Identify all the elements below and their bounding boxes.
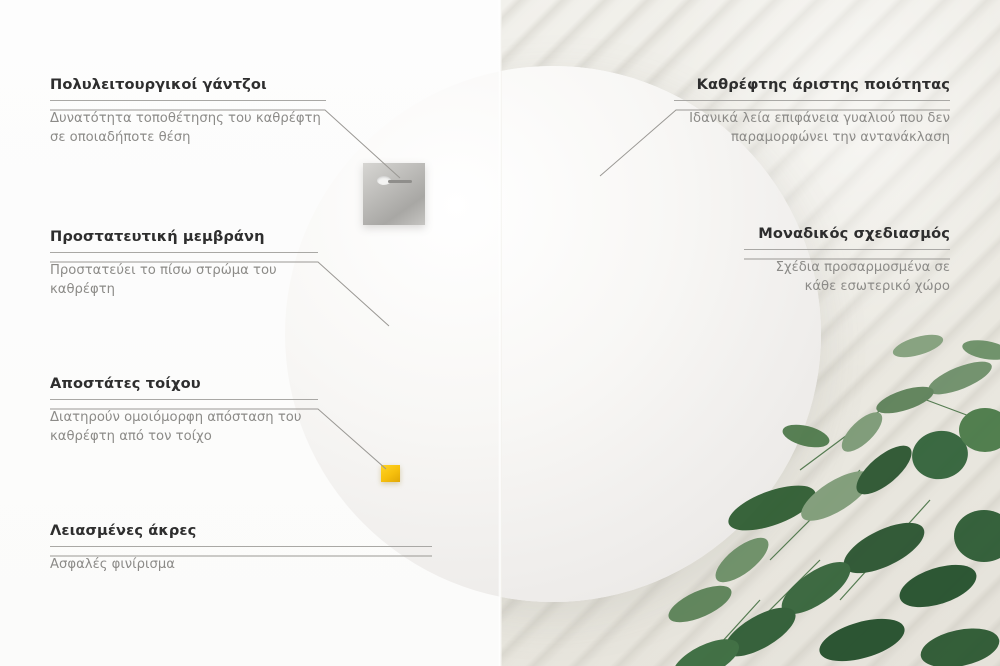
callout-unique-design: Μοναδικός σχεδιασμός Σχέδια προσαρμοσμέν… [744,225,950,296]
callout-rule [674,100,950,101]
callout-rule [50,100,326,101]
wall-spacer-block [381,465,400,482]
callout-title: Καθρέφτης άριστης ποιότητας [674,76,950,93]
callout-multifunctional-hooks: Πολυλειτουργικοί γάντζοι Δυνατότητα τοπο… [50,76,326,147]
callout-rule [50,546,432,547]
callout-title: Προστατευτική μεμβράνη [50,228,318,245]
callout-rule [50,399,318,400]
callout-protective-membrane: Προστατευτική μεμβράνη Προστατεύει το πί… [50,228,318,299]
callout-title: Αποστάτες τοίχου [50,375,318,392]
callout-description: Δυνατότητα τοποθέτησης του καθρέφτη σε ο… [50,110,326,147]
mounting-hook-plate [363,163,425,225]
callout-rule [50,252,318,253]
callout-smoothed-edges: Λειασμένες άκρες Ασφαλές φινίρισμα [50,522,432,575]
infographic-canvas: Πολυλειτουργικοί γάντζοι Δυνατότητα τοπο… [0,0,1000,666]
callout-description: Διατηρούν ομοιόμορφη απόσταση του καθρέφ… [50,409,318,446]
callout-title: Λειασμένες άκρες [50,522,432,539]
callout-description: Ασφαλές φινίρισμα [50,556,432,575]
callout-title: Πολυλειτουργικοί γάντζοι [50,76,326,93]
callout-top-quality-mirror: Καθρέφτης άριστης ποιότητας Ιδανικά λεία… [674,76,950,147]
callout-title: Μοναδικός σχεδιασμός [744,225,950,242]
callout-description: Σχέδια προσαρμοσμένα σε κάθε εσωτερικό χ… [744,259,950,296]
callout-description: Προστατεύει το πίσω στρώμα του καθρέφτη [50,262,318,299]
hook-keyhole-icon [377,176,411,185]
callout-description: Ιδανικά λεία επιφάνεια γυαλιού που δεν π… [674,110,950,147]
panel-seam [498,0,502,666]
callout-rule [744,249,950,250]
callout-wall-spacers: Αποστάτες τοίχου Διατηρούν ομοιόμορφη απ… [50,375,318,446]
